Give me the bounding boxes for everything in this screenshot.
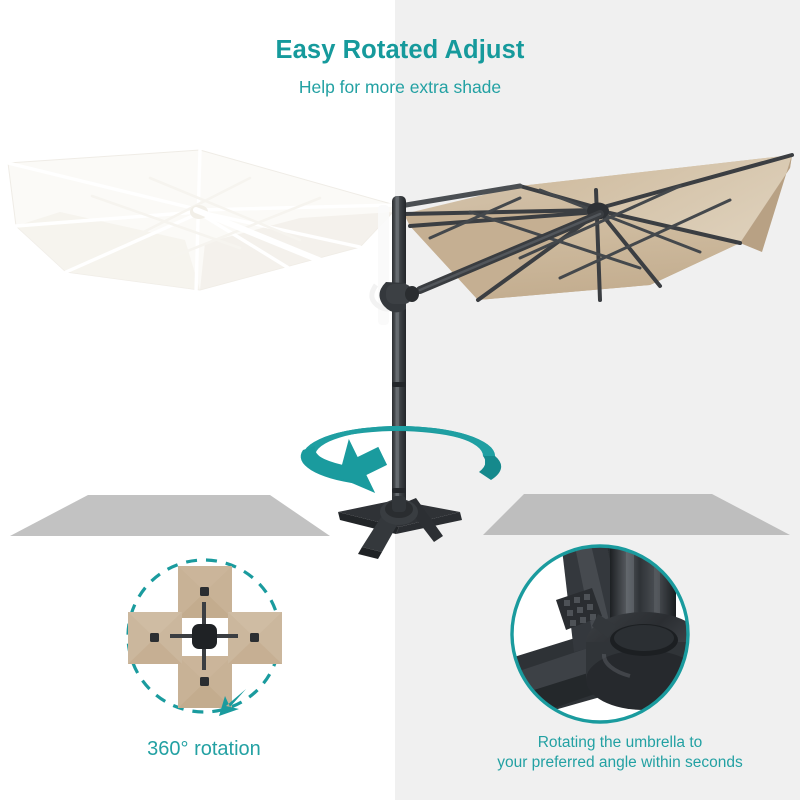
- heading-block: Easy Rotated Adjust Help for more extra …: [0, 36, 800, 97]
- shadow-right: [483, 494, 790, 535]
- caption-rotating-umbrella: Rotating the umbrella to your preferred …: [455, 733, 785, 773]
- page-title: Easy Rotated Adjust: [0, 36, 800, 64]
- ghost-umbrella: [8, 150, 396, 325]
- caption-right-line2: your preferred angle within seconds: [455, 753, 785, 773]
- cross-base-stand: [338, 496, 462, 559]
- shadow-left: [10, 495, 330, 536]
- active-umbrella: [400, 155, 792, 300]
- caption-right-line1: Rotating the umbrella to: [455, 733, 785, 753]
- pivot-photo: [508, 542, 692, 726]
- pivot-closeup-inset[interactable]: [508, 542, 692, 726]
- rotation-diagram-inset[interactable]: [118, 550, 290, 722]
- caption-360-rotation: 360° rotation: [84, 737, 324, 763]
- infographic-stage: Easy Rotated Adjust Help for more extra …: [0, 0, 800, 800]
- page-subtitle: Help for more extra shade: [0, 78, 800, 97]
